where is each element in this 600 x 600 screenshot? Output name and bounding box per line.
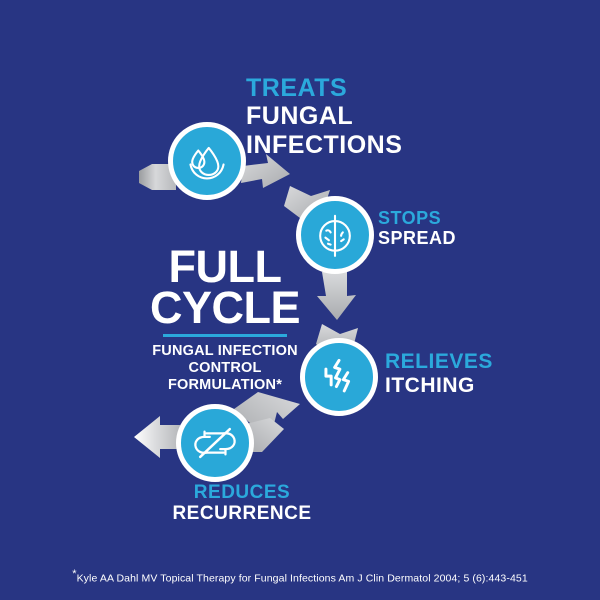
callout-relieves: RELIEVES ITCHING — [385, 350, 493, 397]
full-cycle-infographic: TREATS FUNGAL INFECTIONS STOPS SPREAD RE… — [0, 0, 600, 600]
brand-sub-line3: FORMULATION* — [130, 377, 320, 394]
step-node-treats[interactable] — [168, 122, 246, 200]
callout-stops: STOPS SPREAD — [378, 208, 456, 249]
arrow-treats-to-stops — [241, 154, 290, 188]
arrow-reduces-exit-left — [134, 416, 180, 458]
brand-line-cycle: CYCLE — [130, 287, 320, 328]
callout-stops-line1: SPREAD — [378, 228, 456, 248]
callout-treats: TREATS FUNGAL INFECTIONS — [246, 74, 402, 159]
callout-relieves-line1: ITCHING — [385, 374, 493, 398]
callout-relieves-lead: RELIEVES — [385, 350, 493, 374]
footnote-citation: *Kyle AA Dahl MV Topical Therapy for Fun… — [0, 568, 600, 585]
callout-treats-lead: TREATS — [246, 74, 402, 102]
step-node-reduces[interactable] — [176, 404, 254, 482]
footnote-text: Kyle AA Dahl MV Topical Therapy for Fung… — [77, 573, 528, 585]
water-droplets-icon — [173, 127, 241, 195]
brand-sub-line1: FUNGAL INFECTION — [130, 343, 320, 360]
callout-treats-line1: FUNGAL — [246, 102, 402, 130]
brand-divider-rule — [163, 334, 287, 337]
arrow-stops-to-relieves — [317, 272, 356, 320]
callout-stops-lead: STOPS — [378, 208, 456, 228]
brand-sub-line2: CONTROL — [130, 360, 320, 377]
callout-reduces-line1: RECURRENCE — [172, 503, 312, 524]
brand-block: FULL CYCLE FUNGAL INFECTION CONTROL FORM… — [130, 246, 320, 394]
callout-reduces: REDUCES RECURRENCE — [172, 482, 312, 525]
callout-treats-line2: INFECTIONS — [246, 131, 402, 159]
brand-line-full: FULL — [130, 246, 320, 287]
callout-reduces-lead: REDUCES — [172, 482, 312, 503]
no-recycle-loop-icon — [181, 409, 249, 477]
